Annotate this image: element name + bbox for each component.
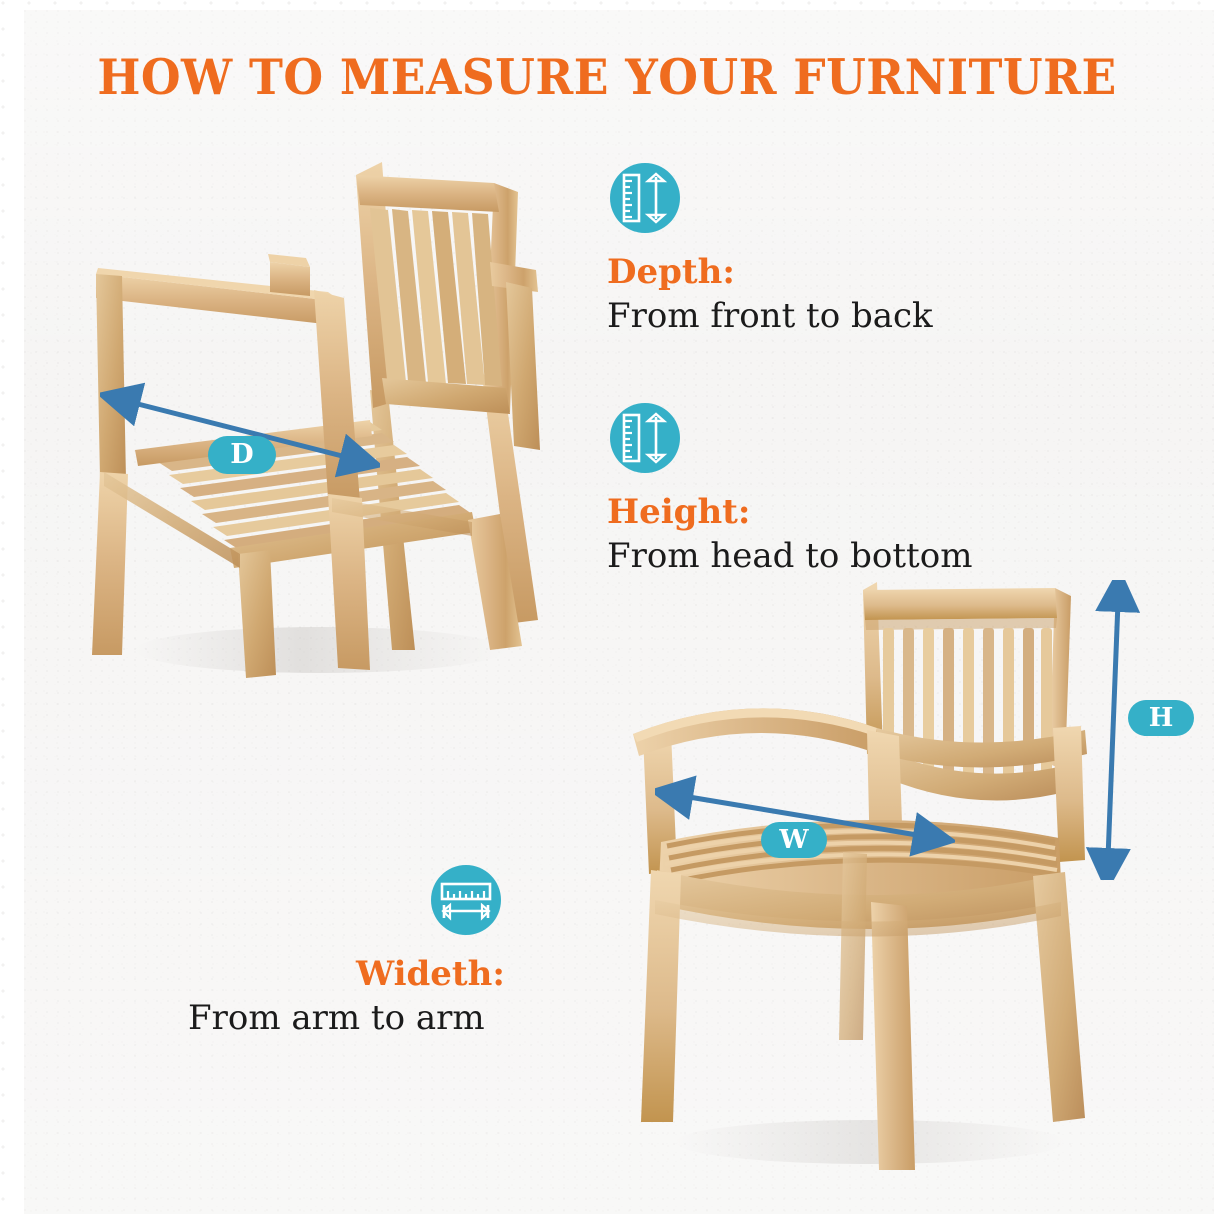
legend-width-description: From arm to arm [188,999,505,1038]
legend-depth-description: From front to back [607,297,933,336]
page-title: HOW TO MEASURE YOUR FURNITURE [42,48,1171,106]
legend-height-term: Height: [607,494,972,531]
legend-height-description: From head to bottom [607,537,972,576]
legend-width-term: Wideth: [356,956,505,993]
legend-depth-term: Depth: [607,254,933,291]
right-chair-illustration [615,570,1115,1180]
vertical-ruler-arrow-icon [607,400,683,476]
legend-depth: Depth: From front to back [607,160,933,336]
legend-width: Wideth: From arm to arm [188,862,505,1038]
left-chair-illustration [70,150,570,690]
horizontal-ruler-arrow-icon [428,862,504,938]
vertical-ruler-arrow-icon [607,160,683,236]
legend-height: Height: From head to bottom [607,400,972,576]
infographic-canvas: HOW TO MEASURE YOUR FURNITURE [0,0,1214,1214]
